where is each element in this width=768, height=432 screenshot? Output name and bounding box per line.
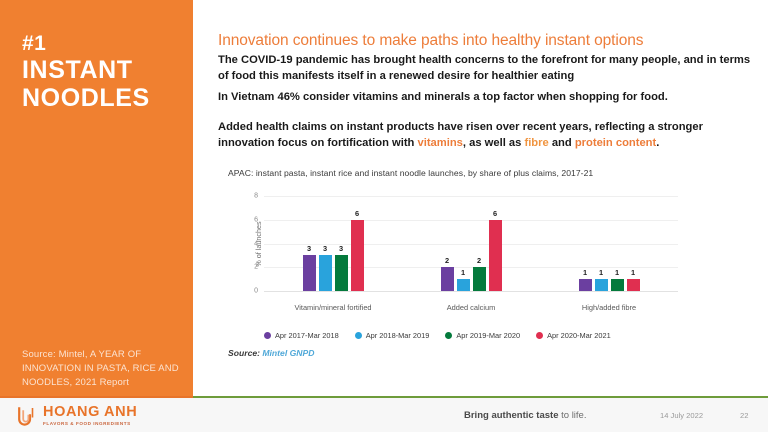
chart-source: Source: Mintel GNPD (228, 348, 314, 358)
chart-bar-value-label: 2 (445, 256, 449, 265)
footer-tagline-rest: to life. (559, 410, 587, 421)
footer-page-number: 22 (740, 411, 748, 420)
chart-bar-value-label: 3 (339, 244, 343, 253)
chart-bar-value-label: 1 (631, 268, 635, 277)
left-orange-panel: #1 INSTANT NOODLES Source: Mintel, A YEA… (0, 0, 193, 396)
panel-rank: #1 (22, 32, 182, 56)
hoang-anh-logo-icon (16, 405, 38, 427)
logo-name: HOANG ANH (43, 405, 137, 420)
chart-category-label: Vitamin/mineral fortified (294, 303, 371, 312)
company-logo: HOANG ANH FLAVORS & FOOD INGREDIENTS (16, 403, 266, 429)
chart-bar: 3 (303, 255, 316, 291)
panel-title-line2: NOODLES (22, 84, 182, 112)
chart-bar-value-label: 6 (493, 209, 497, 218)
chart-category-group: 1111High/added fibre (540, 196, 678, 291)
legend-swatch-icon (264, 332, 271, 339)
chart: APAC: instant pasta, instant rice and in… (228, 168, 758, 396)
chart-y-tick-label: 6 (254, 216, 258, 223)
highlight-vitamins: vitamins (418, 137, 463, 149)
legend-swatch-icon (445, 332, 452, 339)
chart-category-label: High/added fibre (582, 303, 636, 312)
chart-category-group: 2126Added calcium (402, 196, 540, 291)
chart-y-tick-label: 0 (254, 288, 258, 295)
chart-bar: 3 (319, 255, 332, 291)
chart-bar: 3 (335, 255, 348, 291)
chart-bar: 2 (473, 267, 486, 291)
chart-bar: 1 (457, 279, 470, 291)
paragraph-3: Added health claims on instant products … (218, 120, 752, 152)
chart-bar-value-label: 3 (323, 244, 327, 253)
chart-bar-value-label: 1 (615, 268, 619, 277)
chart-legend-label: Apr 2019-Mar 2020 (456, 331, 520, 340)
chart-legend-item[interactable]: Apr 2019-Mar 2020 (445, 331, 520, 340)
legend-swatch-icon (536, 332, 543, 339)
chart-bar-value-label: 6 (355, 209, 359, 218)
paragraph-3-part4: . (656, 137, 659, 149)
chart-bar-value-label: 1 (599, 268, 603, 277)
paragraph-1: The COVID-19 pandemic has brought health… (218, 53, 752, 85)
paragraph-2: In Vietnam 46% consider vitamins and min… (218, 90, 752, 106)
chart-source-link[interactable]: Mintel GNPD (262, 348, 314, 358)
chart-legend-item[interactable]: Apr 2020-Mar 2021 (536, 331, 611, 340)
legend-swatch-icon (355, 332, 362, 339)
headline: Innovation continues to make paths into … (218, 32, 758, 50)
slide-root: #1 INSTANT NOODLES Source: Mintel, A YEA… (0, 0, 768, 432)
chart-source-label: Source: (228, 348, 260, 358)
chart-y-tick-label: 2 (254, 264, 258, 271)
chart-category-group: 3336Vitamin/mineral fortified (264, 196, 402, 291)
chart-legend-label: Apr 2017-Mar 2018 (275, 331, 339, 340)
content-area: Innovation continues to make paths into … (218, 0, 760, 396)
panel-title-line1: INSTANT (22, 56, 182, 84)
chart-bar-value-label: 1 (461, 268, 465, 277)
footer-tagline-bold: Bring authentic taste (464, 410, 559, 421)
chart-bar-value-label: 2 (477, 256, 481, 265)
paragraph-3-part3: and (549, 137, 575, 149)
highlight-fibre: fibre (524, 137, 548, 149)
chart-legend-label: Apr 2018-Mar 2019 (366, 331, 430, 340)
chart-y-tick-label: 8 (254, 193, 258, 200)
chart-legend-item[interactable]: Apr 2018-Mar 2019 (355, 331, 430, 340)
panel-source-note: Source: Mintel, A YEAR OF INNOVATION IN … (22, 348, 182, 389)
logo-text-block: HOANG ANH FLAVORS & FOOD INGREDIENTS (43, 405, 137, 426)
chart-bar: 2 (441, 267, 454, 291)
footer-bar: HOANG ANH FLAVORS & FOOD INGREDIENTS Bri… (0, 398, 768, 432)
chart-y-tick-label: 4 (254, 240, 258, 247)
chart-plot-inner: 024683336Vitamin/mineral fortified2126Ad… (264, 196, 678, 291)
chart-bar-value-label: 3 (307, 244, 311, 253)
chart-legend-label: Apr 2020-Mar 2021 (547, 331, 611, 340)
paragraph-3-part2: , as well as (463, 137, 525, 149)
chart-plot-area: % of launches 024683336Vitamin/mineral f… (264, 196, 678, 291)
chart-bar: 1 (611, 279, 624, 291)
footer-date: 14 July 2022 (660, 411, 703, 420)
highlight-protein-content: protein content (575, 137, 656, 149)
footer-tagline: Bring authentic taste to life. (464, 410, 587, 421)
chart-bar-value-label: 1 (583, 268, 587, 277)
chart-legend-item[interactable]: Apr 2017-Mar 2018 (264, 331, 339, 340)
chart-legend: Apr 2017-Mar 2018Apr 2018-Mar 2019Apr 20… (264, 331, 734, 340)
chart-category-label: Added calcium (447, 303, 495, 312)
chart-bar: 6 (489, 220, 502, 291)
chart-title: APAC: instant pasta, instant rice and in… (228, 168, 593, 178)
panel-title: #1 INSTANT NOODLES (22, 32, 182, 112)
chart-bar: 1 (579, 279, 592, 291)
logo-tagline: FLAVORS & FOOD INGREDIENTS (43, 422, 137, 427)
chart-bar: 1 (595, 279, 608, 291)
chart-bar: 1 (627, 279, 640, 291)
chart-bar: 6 (351, 220, 364, 291)
chart-x-axis-line (264, 291, 678, 292)
